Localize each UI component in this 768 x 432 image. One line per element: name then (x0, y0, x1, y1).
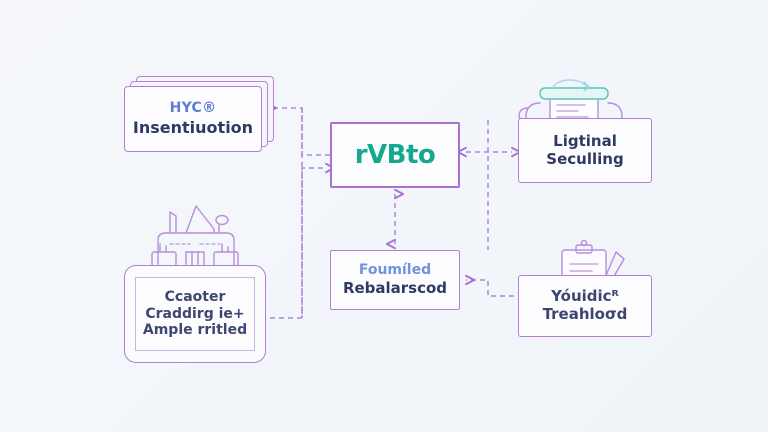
node-right-bottom-line2: Treahloσd (543, 306, 628, 324)
node-right-bottom[interactable]: Yóuidicᴿ Treahloσd (518, 275, 652, 337)
node-middle-line1: Foumíled (359, 262, 431, 279)
node-center-label: rVBto (355, 140, 436, 171)
node-hyc[interactable]: HYC® Insentiuotion (124, 86, 262, 152)
diagram-canvas: HYC® Insentiuotion rVBto Ligtinal Secull… (0, 0, 768, 432)
node-middle-line2: Rebalarscod (343, 280, 447, 298)
node-bottom-left-line3: Ample rritled (143, 322, 247, 339)
node-bottom-left-line2: Craddirg ie+ (145, 306, 244, 323)
icon-layer (0, 0, 768, 432)
node-center[interactable]: rVBto (330, 122, 460, 188)
node-right-bottom-line1: Yóuidicᴿ (551, 288, 619, 306)
node-bottom-left-inner-panel: Ccaoter Craddirg ie+ Ample rritled (135, 277, 255, 351)
node-right-top-line1: Ligtinal (553, 133, 617, 151)
node-hyc-line1: HYC® (170, 100, 217, 117)
node-hyc-line2: Insentiuotion (133, 119, 253, 138)
node-right-top[interactable]: Ligtinal Seculling (518, 118, 652, 183)
node-right-top-line2: Seculling (546, 151, 623, 169)
factory-building-icon (140, 206, 252, 268)
node-bottom-left[interactable]: Ccaoter Craddirg ie+ Ample rritled (124, 265, 266, 363)
node-bottom-left-line1: Ccaoter (165, 289, 226, 306)
node-middle[interactable]: Foumíled Rebalarscod (330, 250, 460, 310)
